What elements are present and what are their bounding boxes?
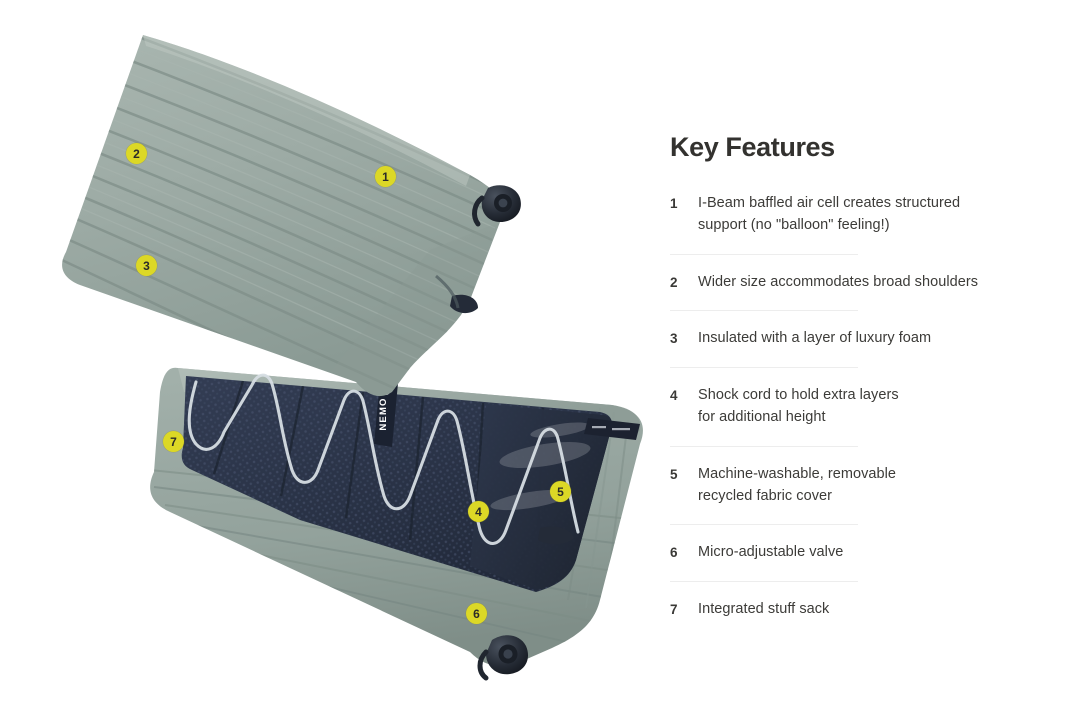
callout-badge-3[interactable]: 3	[136, 255, 157, 276]
feature-number: 5	[670, 464, 698, 486]
feature-number: 3	[670, 328, 698, 350]
nemo-brand-text: NEMO	[378, 397, 389, 430]
feature-divider	[670, 524, 858, 525]
product-illustration: NEMO	[0, 0, 680, 720]
callout-badge-1[interactable]: 1	[375, 166, 396, 187]
feature-number: 1	[670, 193, 698, 215]
upper-pillow	[40, 30, 504, 418]
callout-badge-4[interactable]: 4	[468, 501, 489, 522]
feature-item-7: 7 Integrated stuff sack	[668, 599, 1064, 621]
feature-description: Machine-washable, removable recycled fab…	[698, 464, 896, 508]
feature-item-6: 6 Micro-adjustable valve	[668, 542, 1064, 564]
callout-badge-2[interactable]: 2	[126, 143, 147, 164]
feature-description: Shock cord to hold extra layers for addi…	[698, 385, 899, 429]
callout-badge-7[interactable]: 7	[163, 431, 184, 452]
feature-description: I-Beam baffled air cell creates structur…	[698, 193, 960, 237]
feature-item-1: 1 I-Beam baffled air cell creates struct…	[668, 193, 1064, 237]
feature-number: 2	[670, 272, 698, 294]
feature-divider	[670, 446, 858, 447]
feature-description: Wider size accommodates broad shoulders	[698, 272, 978, 294]
callout-badge-6[interactable]: 6	[466, 603, 487, 624]
feature-number: 7	[670, 599, 698, 621]
feature-description: Insulated with a layer of luxury foam	[698, 328, 931, 350]
feature-divider	[670, 310, 858, 311]
page-title: Key Features	[670, 132, 1064, 163]
feature-item-3: 3 Insulated with a layer of luxury foam	[668, 328, 1064, 350]
callout-badge-5[interactable]: 5	[550, 481, 571, 502]
feature-divider	[670, 254, 858, 255]
feature-item-2: 2 Wider size accommodates broad shoulder…	[668, 272, 1064, 294]
feature-diagram-canvas: NEMO	[0, 0, 1080, 720]
feature-number: 4	[670, 385, 698, 407]
feature-divider	[670, 367, 858, 368]
feature-item-5: 5 Machine-washable, removable recycled f…	[668, 464, 1064, 508]
feature-description: Micro-adjustable valve	[698, 542, 843, 564]
key-features-panel: Key Features 1 I-Beam baffled air cell c…	[668, 132, 1064, 621]
feature-item-4: 4 Shock cord to hold extra layers for ad…	[668, 385, 1064, 429]
feature-number: 6	[670, 542, 698, 564]
feature-description: Integrated stuff sack	[698, 599, 829, 621]
feature-divider	[670, 581, 858, 582]
